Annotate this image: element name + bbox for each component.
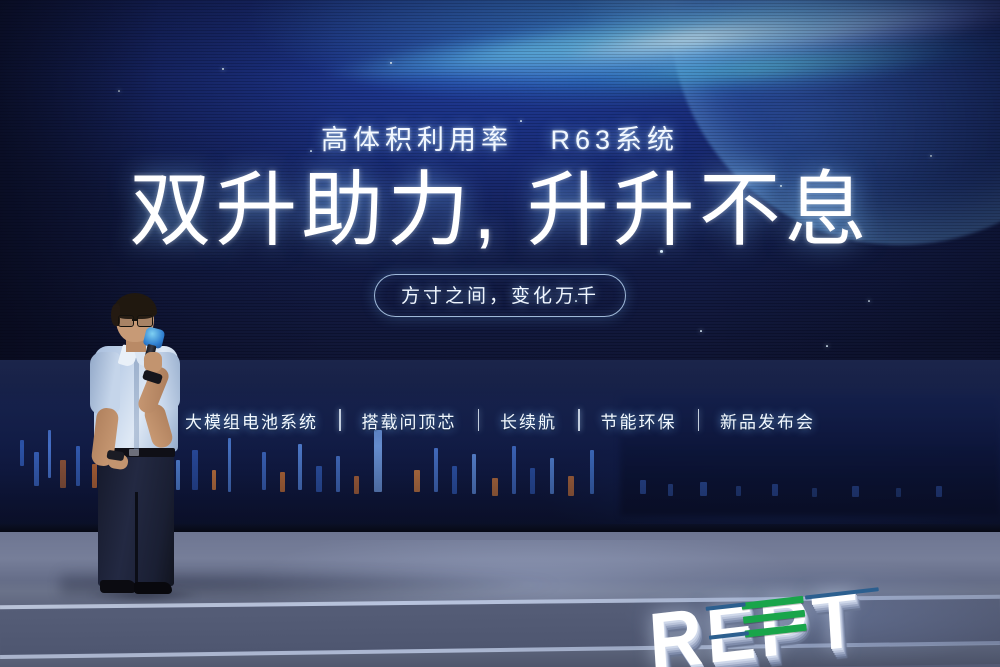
speaker-belt-buckle <box>129 449 139 456</box>
star-icon <box>222 68 224 70</box>
feature-divider <box>478 409 480 431</box>
star-icon <box>826 345 828 347</box>
slide-headline: 双升助力, 升升不息 <box>0 168 1000 254</box>
speaker-leg-seam <box>135 492 138 586</box>
feature-item-3: 长续航 <box>500 408 557 433</box>
feature-item-5: 新品发布会 <box>720 408 815 433</box>
speaker-shoe-right <box>134 582 172 594</box>
star-icon <box>700 330 702 332</box>
feature-divider <box>578 409 580 431</box>
feature-item-4: 节能环保 <box>601 408 677 433</box>
glasses-lens-left <box>118 315 134 327</box>
speaker-person <box>82 296 202 592</box>
star-icon <box>390 62 392 64</box>
glasses-lens-right <box>137 315 153 327</box>
feature-item-2: 搭载问顶芯 <box>362 408 457 433</box>
feature-divider <box>339 409 341 431</box>
star-icon <box>118 90 120 92</box>
speaker-shoe-left <box>100 580 136 593</box>
feature-item-1: 大模组电池系统 <box>185 408 318 433</box>
slide-subtitle: 高体积利用率 R63系统 <box>0 118 1000 157</box>
speaker-sleeve-left <box>90 352 120 414</box>
feature-divider <box>698 409 700 431</box>
stage-scene: 高体积利用率 R63系统 双升助力, 升升不息 方寸之间，变化万千 大模组电池系… <box>0 0 1000 667</box>
slide-tagline-pill: 方寸之间，变化万千 <box>374 274 626 317</box>
glasses-icon <box>118 315 154 325</box>
